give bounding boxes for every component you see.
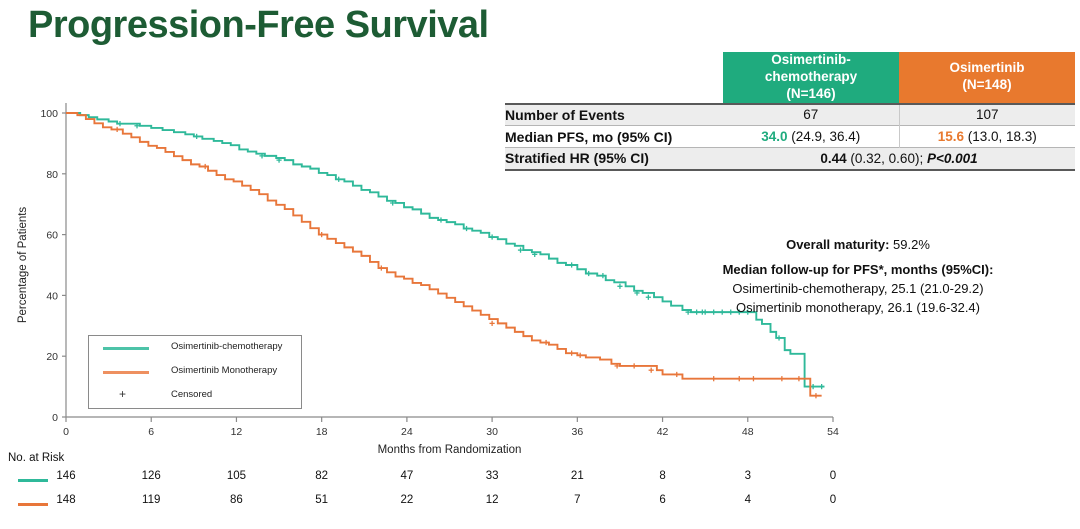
header-line-2: (N=148) — [899, 77, 1075, 94]
median-pfs-orange-ci: (13.0, 18.3) — [968, 129, 1037, 144]
y-tick-label: 80 — [46, 169, 58, 181]
censored-plus-icon: + — [119, 387, 126, 401]
followup-line-chemo: Osimertinib-chemotherapy, 25.1 (21.0-29.… — [640, 280, 1076, 299]
header-line-1: Osimertinib — [899, 60, 1075, 77]
x-tick-label: 24 — [401, 426, 413, 438]
x-tick-label: 30 — [486, 426, 498, 438]
header-line-1: Osimertinib- — [723, 52, 899, 69]
risk-row-chemo: 14612610582473321830 — [8, 470, 878, 494]
hr-ci: (0.32, 0.60); — [850, 151, 923, 166]
legend-label: Censored — [171, 389, 212, 400]
table-row: Stratified HR (95% CI) 0.44 (0.32, 0.60)… — [505, 148, 1075, 170]
y-tick-label: 60 — [46, 230, 58, 242]
x-tick-label: 18 — [316, 426, 328, 438]
chart-legend: Osimertinib-chemotherapy Osimertinib Mon… — [88, 335, 302, 409]
risk-value: 4 — [745, 494, 751, 506]
legend-label: Osimertinib-chemotherapy — [171, 341, 282, 352]
header-osimertinib-chemotherapy: Osimertinib- chemotherapy (N=146) — [723, 52, 899, 104]
header-osimertinib: Osimertinib (N=148) — [899, 52, 1075, 104]
row-value-orange: 107 — [899, 104, 1075, 126]
table-row: Number of Events 67 107 — [505, 104, 1075, 126]
x-tick-label: 12 — [231, 426, 243, 438]
risk-value: 126 — [142, 470, 161, 482]
risk-value: 105 — [227, 470, 246, 482]
y-tick-label: 20 — [46, 351, 58, 363]
row-value-green: 34.0 (24.9, 36.4) — [723, 126, 899, 148]
header-line-2: chemotherapy — [723, 69, 899, 86]
legend-item: + Censored — [89, 384, 301, 408]
followup-heading: Median follow-up for PFS*, months (95%CI… — [640, 261, 1076, 280]
row-value-orange: 15.6 (13.0, 18.3) — [899, 126, 1075, 148]
risk-value: 146 — [56, 470, 75, 482]
x-tick-label: 42 — [657, 426, 669, 438]
x-tick-label: 36 — [571, 426, 583, 438]
page-title: Progression-Free Survival — [28, 4, 489, 47]
risk-row-mono: 148119865122127640 — [8, 494, 878, 518]
risk-value: 47 — [400, 470, 413, 482]
risk-value: 0 — [830, 470, 836, 482]
risk-value: 148 — [56, 494, 75, 506]
y-axis-label: Percentage of Patients — [17, 207, 29, 324]
y-tick-label: 100 — [40, 108, 58, 120]
risk-swatch-orange — [18, 503, 48, 506]
header-blank-cell — [505, 52, 723, 104]
risk-value: 7 — [574, 494, 580, 506]
row-label: Median PFS, mo (95% CI) — [505, 126, 723, 148]
notes-block: Overall maturity: 59.2% Median follow-up… — [640, 236, 1076, 317]
y-tick-label: 40 — [46, 290, 58, 302]
x-tick-label: 6 — [148, 426, 154, 438]
results-table: Osimertinib- chemotherapy (N=146) Osimer… — [505, 52, 1075, 171]
risk-value: 86 — [230, 494, 243, 506]
x-tick-label: 54 — [827, 426, 839, 438]
x-tick-label: 0 — [63, 426, 69, 438]
row-value-hr: 0.44 (0.32, 0.60); P<0.001 — [723, 148, 1075, 170]
risk-value: 119 — [142, 494, 160, 506]
risk-value: 3 — [745, 470, 751, 482]
legend-item: Osimertinib-chemotherapy — [89, 336, 301, 360]
x-tick-label: 48 — [742, 426, 754, 438]
median-pfs-green-ci: (24.9, 36.4) — [791, 129, 860, 144]
overall-maturity-label: Overall maturity: — [786, 237, 889, 252]
risk-value: 82 — [315, 470, 328, 482]
row-value-green: 67 — [723, 104, 899, 126]
table-header-row: Osimertinib- chemotherapy (N=146) Osimer… — [505, 52, 1075, 104]
risk-value: 12 — [486, 494, 499, 506]
legend-label: Osimertinib Monotherapy — [171, 365, 277, 376]
row-label: Stratified HR (95% CI) — [505, 148, 723, 170]
header-line-3: (N=146) — [723, 86, 899, 103]
legend-swatch-osimertinib-chemotherapy — [103, 347, 149, 350]
risk-swatch-green — [18, 479, 48, 482]
risk-value: 0 — [830, 494, 836, 506]
overall-maturity-value: 59.2% — [893, 237, 930, 252]
overall-maturity-line: Overall maturity: 59.2% — [640, 236, 1076, 255]
followup-line-mono: Osimertinib monotherapy, 26.1 (19.6-32.4… — [640, 299, 1076, 318]
risk-value: 22 — [400, 494, 413, 506]
no-at-risk-title: No. at Risk — [8, 452, 878, 464]
y-tick-label: 0 — [52, 412, 58, 424]
risk-value: 51 — [315, 494, 328, 506]
risk-value: 21 — [571, 470, 584, 482]
hr-pvalue: P<0.001 — [927, 151, 978, 166]
median-pfs-green: 34.0 — [761, 129, 787, 144]
median-pfs-orange: 15.6 — [938, 129, 964, 144]
risk-value: 33 — [486, 470, 499, 482]
table-row: Median PFS, mo (95% CI) 34.0 (24.9, 36.4… — [505, 126, 1075, 148]
risk-value: 6 — [659, 494, 665, 506]
hr-value: 0.44 — [820, 151, 846, 166]
risk-value: 8 — [659, 470, 665, 482]
row-label: Number of Events — [505, 104, 723, 126]
legend-item: Osimertinib Monotherapy — [89, 360, 301, 384]
legend-swatch-osimertinib-monotherapy — [103, 371, 149, 374]
no-at-risk-table: No. at Risk 14612610582473321830 1481198… — [8, 452, 878, 518]
